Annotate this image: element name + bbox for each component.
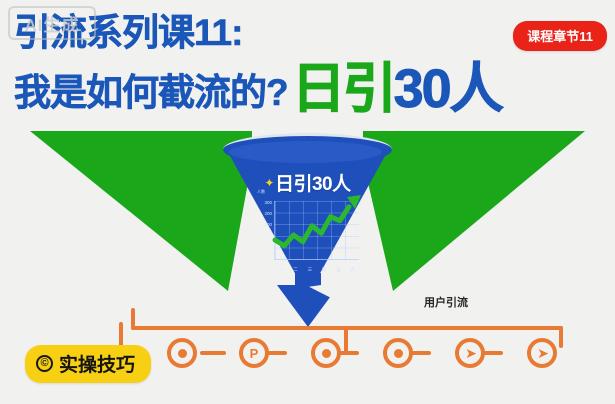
- chart-x-ticks: 一 二 三 四 五 六: [274, 267, 360, 273]
- flow-node-6[interactable]: ➤: [527, 338, 557, 368]
- ai-watermark: AI生成: [8, 6, 96, 40]
- copyright-icon: ©: [36, 355, 53, 372]
- funnel-label-text: 日引30人: [275, 174, 351, 195]
- funnel-graphic: ✦日引30人 人数 300 200 100 一 二 三 四 五 六: [225, 131, 390, 316]
- funnel-rim-inner: [229, 141, 382, 163]
- flow-node-1[interactable]: [167, 338, 197, 368]
- dot-icon: [322, 349, 331, 358]
- flow-node-4[interactable]: [383, 338, 413, 368]
- dot-icon: [178, 349, 187, 358]
- chart-xtick: 四: [322, 267, 327, 273]
- dot-icon: [394, 349, 403, 358]
- flow-bus-corner-left: [131, 308, 135, 330]
- chart-xtick: 二: [293, 267, 298, 273]
- play-icon: ➤: [465, 346, 477, 360]
- flow-node-3[interactable]: [311, 338, 341, 368]
- chart-xtick: 三: [308, 267, 313, 273]
- green-wedge-left: [0, 131, 252, 291]
- flow-connector-5: [200, 351, 226, 355]
- chart-trend-line: [269, 193, 361, 263]
- headline-line-2-row: 我是如何截流的? 日引 30人: [14, 57, 502, 111]
- letter-p-icon: P: [250, 347, 259, 360]
- play-icon: ➤: [537, 346, 549, 360]
- chart-xtick: 六: [351, 267, 356, 273]
- flow-node-2[interactable]: P: [239, 338, 269, 368]
- poster-canvas: AI生成 引流系列课11: 我是如何截流的? 日引 30人 课程章节11 ✦日引…: [0, 0, 615, 404]
- headline-highlight-green: 日引: [292, 62, 394, 116]
- chart-xtick: 五: [336, 267, 341, 273]
- flow-node-5[interactable]: ➤: [455, 338, 485, 368]
- funnel-rim: [223, 133, 392, 166]
- tips-badge-label: 实操技巧: [59, 350, 135, 377]
- flow-bus-vertical-mid: [344, 328, 348, 352]
- mini-growth-chart: 人数 300 200 100 一 二 三 四 五 六: [257, 193, 361, 271]
- headline-highlight-blue: 30人: [394, 62, 502, 116]
- flow-bus-corner-right: [559, 326, 563, 348]
- flow-label: 用户引流: [424, 294, 468, 310]
- flow-bus-horizontal: [131, 326, 563, 330]
- headline-line-2: 我是如何截流的?: [14, 74, 288, 111]
- funnel-label: ✦日引30人: [225, 169, 390, 196]
- tips-badge: © 实操技巧: [25, 345, 151, 383]
- chart-xtick: 一: [279, 267, 284, 273]
- green-wedge-right: [363, 131, 615, 291]
- sparkle-icon: ✦: [264, 176, 274, 190]
- chapter-badge: 课程章节11: [513, 21, 607, 51]
